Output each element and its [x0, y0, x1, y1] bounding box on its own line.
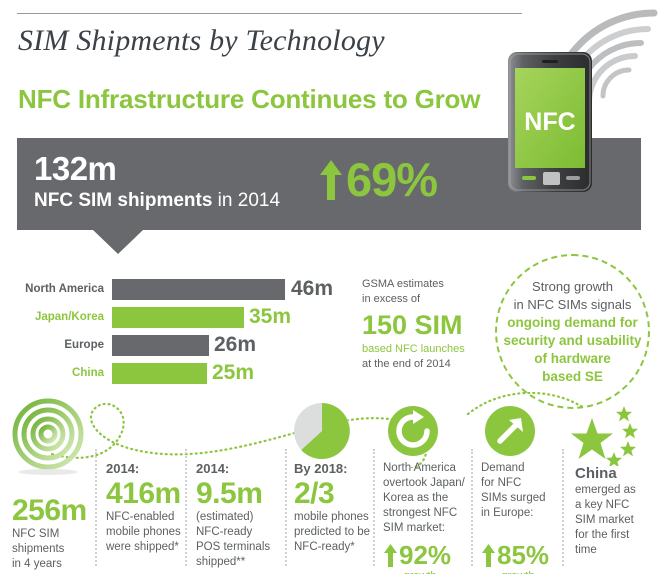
gsma-line-1: GSMA estimates: [362, 277, 480, 292]
stat-card-9-5m: 2014: 9.5m (estimated) NFC-ready POS ter…: [196, 461, 286, 570]
stat-body-line: emerged as: [575, 483, 655, 498]
stat-heading: 2014:: [106, 461, 186, 477]
pie-chart-icon: [293, 402, 351, 460]
headline: NFC Infrastructure Continues to Grow: [18, 84, 480, 115]
bar: [112, 307, 244, 328]
callout-line-1: Strong growth: [532, 278, 613, 296]
hero-growth-value: 69%: [346, 152, 437, 207]
stat-heading: By 2018:: [294, 461, 374, 477]
stat-body-line: were shipped*: [106, 540, 186, 555]
bar-label: Europe: [0, 332, 104, 358]
arrow-up-icon: [318, 158, 344, 202]
stat-body-line: NFC SIM: [12, 527, 92, 542]
stat-body-line: (estimated): [196, 510, 286, 525]
stat-body-line: a key NFC: [575, 498, 655, 513]
china-stars-icon: [566, 404, 646, 466]
hero-value: 132m: [34, 150, 116, 188]
header-divider-rule: [17, 13, 522, 14]
gsma-highlight: 150 SIM: [362, 309, 480, 341]
stat-body-line: SIM market:: [383, 521, 469, 536]
hero-subtitle: NFC SIM shipments in 2014: [34, 190, 280, 212]
callout-green-2: security and usability: [503, 332, 641, 350]
stat-growth-label: growth: [383, 570, 457, 574]
svg-text:NFC: NFC: [524, 108, 575, 136]
bar-value: 26m: [214, 332, 256, 358]
circular-arrow-icon: [388, 406, 438, 456]
stat-name: China: [575, 464, 655, 483]
stat-body-line: in 4 years: [12, 557, 92, 572]
stat-card-2-3: By 2018: 2/3 mobile phones predicted to …: [294, 461, 374, 555]
stat-percent-value: 85%: [497, 540, 549, 570]
bar-value: 46m: [291, 276, 333, 302]
diagonal-arrow-icon: [485, 406, 535, 456]
stat-body-line: for the first: [575, 528, 655, 543]
callout-green-1: ongoing demand for: [507, 314, 638, 332]
stat-body-line: SIMs surged: [481, 491, 563, 506]
stat-body-line: NFC-enabled: [106, 510, 186, 525]
stat-growth-label: growth: [481, 570, 555, 574]
stat-body-line: Demand: [481, 461, 563, 476]
callout-green-4: based SE: [542, 368, 603, 386]
callout-green-3: of hardware: [534, 350, 611, 368]
stat-body-line: shipped**: [196, 555, 286, 570]
stat-body-line: predicted to be: [294, 525, 374, 540]
stat-body-line: North America: [383, 461, 469, 476]
stat-body-line: overtook Japan/: [383, 476, 469, 491]
bar: [112, 335, 209, 356]
stat-body-line: Korea as the: [383, 491, 469, 506]
stat-card-china: China emerged as a key NFC SIM market fo…: [575, 464, 655, 558]
stat-percent-value: 92%: [399, 540, 451, 570]
arrow-up-icon: [481, 543, 496, 568]
smartphone-nfc-icon: NFC: [508, 52, 592, 192]
bar-value: 25m: [212, 360, 254, 386]
hero-subtitle-light: in 2014: [212, 190, 280, 211]
arrow-up-icon: [383, 543, 398, 568]
concentric-rings-icon: [10, 398, 90, 476]
column-divider: [95, 449, 97, 566]
bar-label: North America: [0, 276, 104, 302]
stat-card-85pct: Demand for NFC SIMs surged in Europe: 85…: [481, 461, 563, 574]
stat-number: 416m: [106, 477, 186, 510]
bar-value: 35m: [249, 304, 291, 330]
stat-body-line: mobile phones: [106, 525, 186, 540]
stat-body-line: NFC-ready: [196, 525, 286, 540]
stat-body-line: in Europe:: [481, 506, 563, 521]
column-divider: [471, 449, 473, 566]
bar: [112, 279, 285, 300]
stat-card-92pct: North America overtook Japan/ Korea as t…: [383, 461, 469, 574]
regional-bar-chart: North America 46m Japan/Korea 35m Europe…: [0, 276, 340, 388]
gsma-line-2: in excess of: [362, 292, 480, 307]
stat-card-416m: 2014: 416m NFC-enabled mobile phones wer…: [106, 461, 186, 555]
stat-number: 2/3: [294, 477, 374, 510]
stat-body-line: POS terminals: [196, 540, 286, 555]
stat-body-line: strongest NFC: [383, 506, 469, 521]
stat-number: 256m: [12, 494, 92, 527]
bar: [112, 363, 207, 384]
stat-heading: 2014:: [196, 461, 286, 477]
gsma-line-3: based NFC launches: [362, 342, 480, 357]
stat-percent: 92%: [383, 540, 469, 570]
gsma-estimate-block: GSMA estimates in excess of 150 SIM base…: [362, 277, 480, 372]
hero-subtitle-bold: NFC SIM shipments: [34, 190, 212, 211]
stat-body-line: mobile phones: [294, 510, 374, 525]
strong-growth-callout: Strong growth in NFC SIMs signals ongoin…: [495, 254, 650, 409]
hero-band-pointer: [92, 229, 144, 254]
hero-growth: 69%: [318, 152, 437, 207]
stat-card-256m: 256m NFC SIM shipments in 4 years: [12, 494, 92, 572]
page-title: SIM Shipments by Technology: [18, 24, 385, 58]
callout-line-2: in NFC SIMs signals: [514, 296, 632, 314]
bar-label: China: [0, 360, 104, 386]
gsma-line-4: at the end of 2014: [362, 357, 480, 372]
stat-body-line: shipments: [12, 542, 92, 557]
stat-number: 9.5m: [196, 477, 286, 510]
stat-body-line: for NFC: [481, 476, 563, 491]
stat-body-line: time: [575, 543, 655, 558]
stat-percent: 85%: [481, 540, 563, 570]
infographic-canvas: SIM Shipments by Technology NFC Infrastr…: [0, 0, 667, 574]
stat-body-line: NFC-ready*: [294, 540, 374, 555]
bar-label: Japan/Korea: [0, 304, 104, 330]
stat-body-line: SIM market: [575, 513, 655, 528]
